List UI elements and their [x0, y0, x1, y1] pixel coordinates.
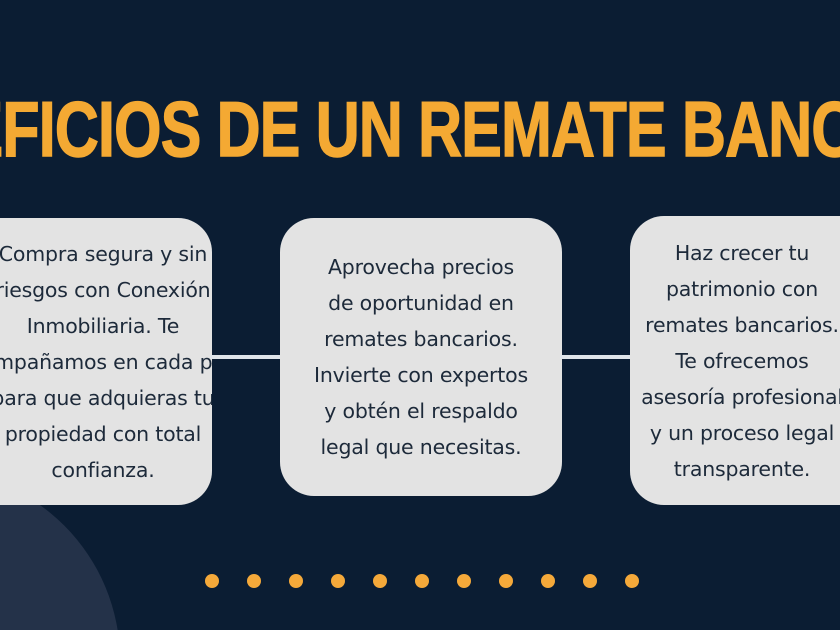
- benefit-card-1-line: para que adquieras tu: [0, 380, 212, 416]
- benefit-card-2-line: legal que necesitas.: [314, 429, 528, 465]
- divider-dot: [205, 574, 219, 588]
- benefit-card-3-line: remates bancarios.: [641, 307, 840, 343]
- divider-dot: [541, 574, 555, 588]
- divider-dot: [583, 574, 597, 588]
- divider-dot: [415, 574, 429, 588]
- benefit-card-3-line: patrimonio con: [641, 271, 840, 307]
- infographic-slide: BENEFICIOS DE UN REMATE BANCARIO Compra …: [0, 0, 840, 630]
- benefit-card-1-line: confianza.: [0, 452, 212, 488]
- card-connector-line-2: [560, 355, 632, 359]
- dot-divider: [205, 574, 639, 588]
- benefit-card-3-line: Te ofrecemos: [641, 343, 840, 379]
- benefit-card-2-line: Invierte con expertos: [314, 357, 528, 393]
- divider-dot: [499, 574, 513, 588]
- benefit-card-2-line: remates bancarios.: [314, 321, 528, 357]
- benefit-card-3-line: asesoría profesional: [641, 379, 840, 415]
- divider-dot: [331, 574, 345, 588]
- benefit-card-1: Compra segura y sinriesgos con ConexiónI…: [0, 218, 212, 505]
- benefit-card-1-line: propiedad con total: [0, 416, 212, 452]
- benefit-card-1-line: Inmobiliaria. Te: [0, 308, 212, 344]
- benefit-card-1-text: Compra segura y sinriesgos con ConexiónI…: [0, 236, 212, 488]
- benefit-card-3-line: Haz crecer tu: [641, 235, 840, 271]
- divider-dot: [457, 574, 471, 588]
- benefit-card-1-line: riesgos con Conexión: [0, 272, 212, 308]
- benefit-card-2-text: Aprovecha preciosde oportunidad enremate…: [314, 249, 528, 465]
- title-banner: BENEFICIOS DE UN REMATE BANCARIO: [0, 92, 840, 166]
- benefit-card-1-line: Compra segura y sin: [0, 236, 212, 272]
- benefit-card-3-text: Haz crecer tupatrimonio conremates banca…: [641, 235, 840, 487]
- benefit-card-3-line: y un proceso legal: [641, 415, 840, 451]
- card-connector-line-1: [210, 355, 282, 359]
- benefit-card-2-line: Aprovecha precios: [314, 249, 528, 285]
- divider-dot: [373, 574, 387, 588]
- benefit-card-3-line: transparente.: [641, 451, 840, 487]
- benefit-card-1-line: acompañamos en cada paso: [0, 344, 212, 380]
- benefit-card-2-line: de oportunidad en: [314, 285, 528, 321]
- page-title: BENEFICIOS DE UN REMATE BANCARIO: [0, 92, 840, 166]
- benefit-card-2-line: y obtén el respaldo: [314, 393, 528, 429]
- benefit-card-2: Aprovecha preciosde oportunidad enremate…: [280, 218, 562, 496]
- divider-dot: [289, 574, 303, 588]
- benefit-card-3: Haz crecer tupatrimonio conremates banca…: [630, 216, 840, 505]
- divider-dot: [247, 574, 261, 588]
- divider-dot: [625, 574, 639, 588]
